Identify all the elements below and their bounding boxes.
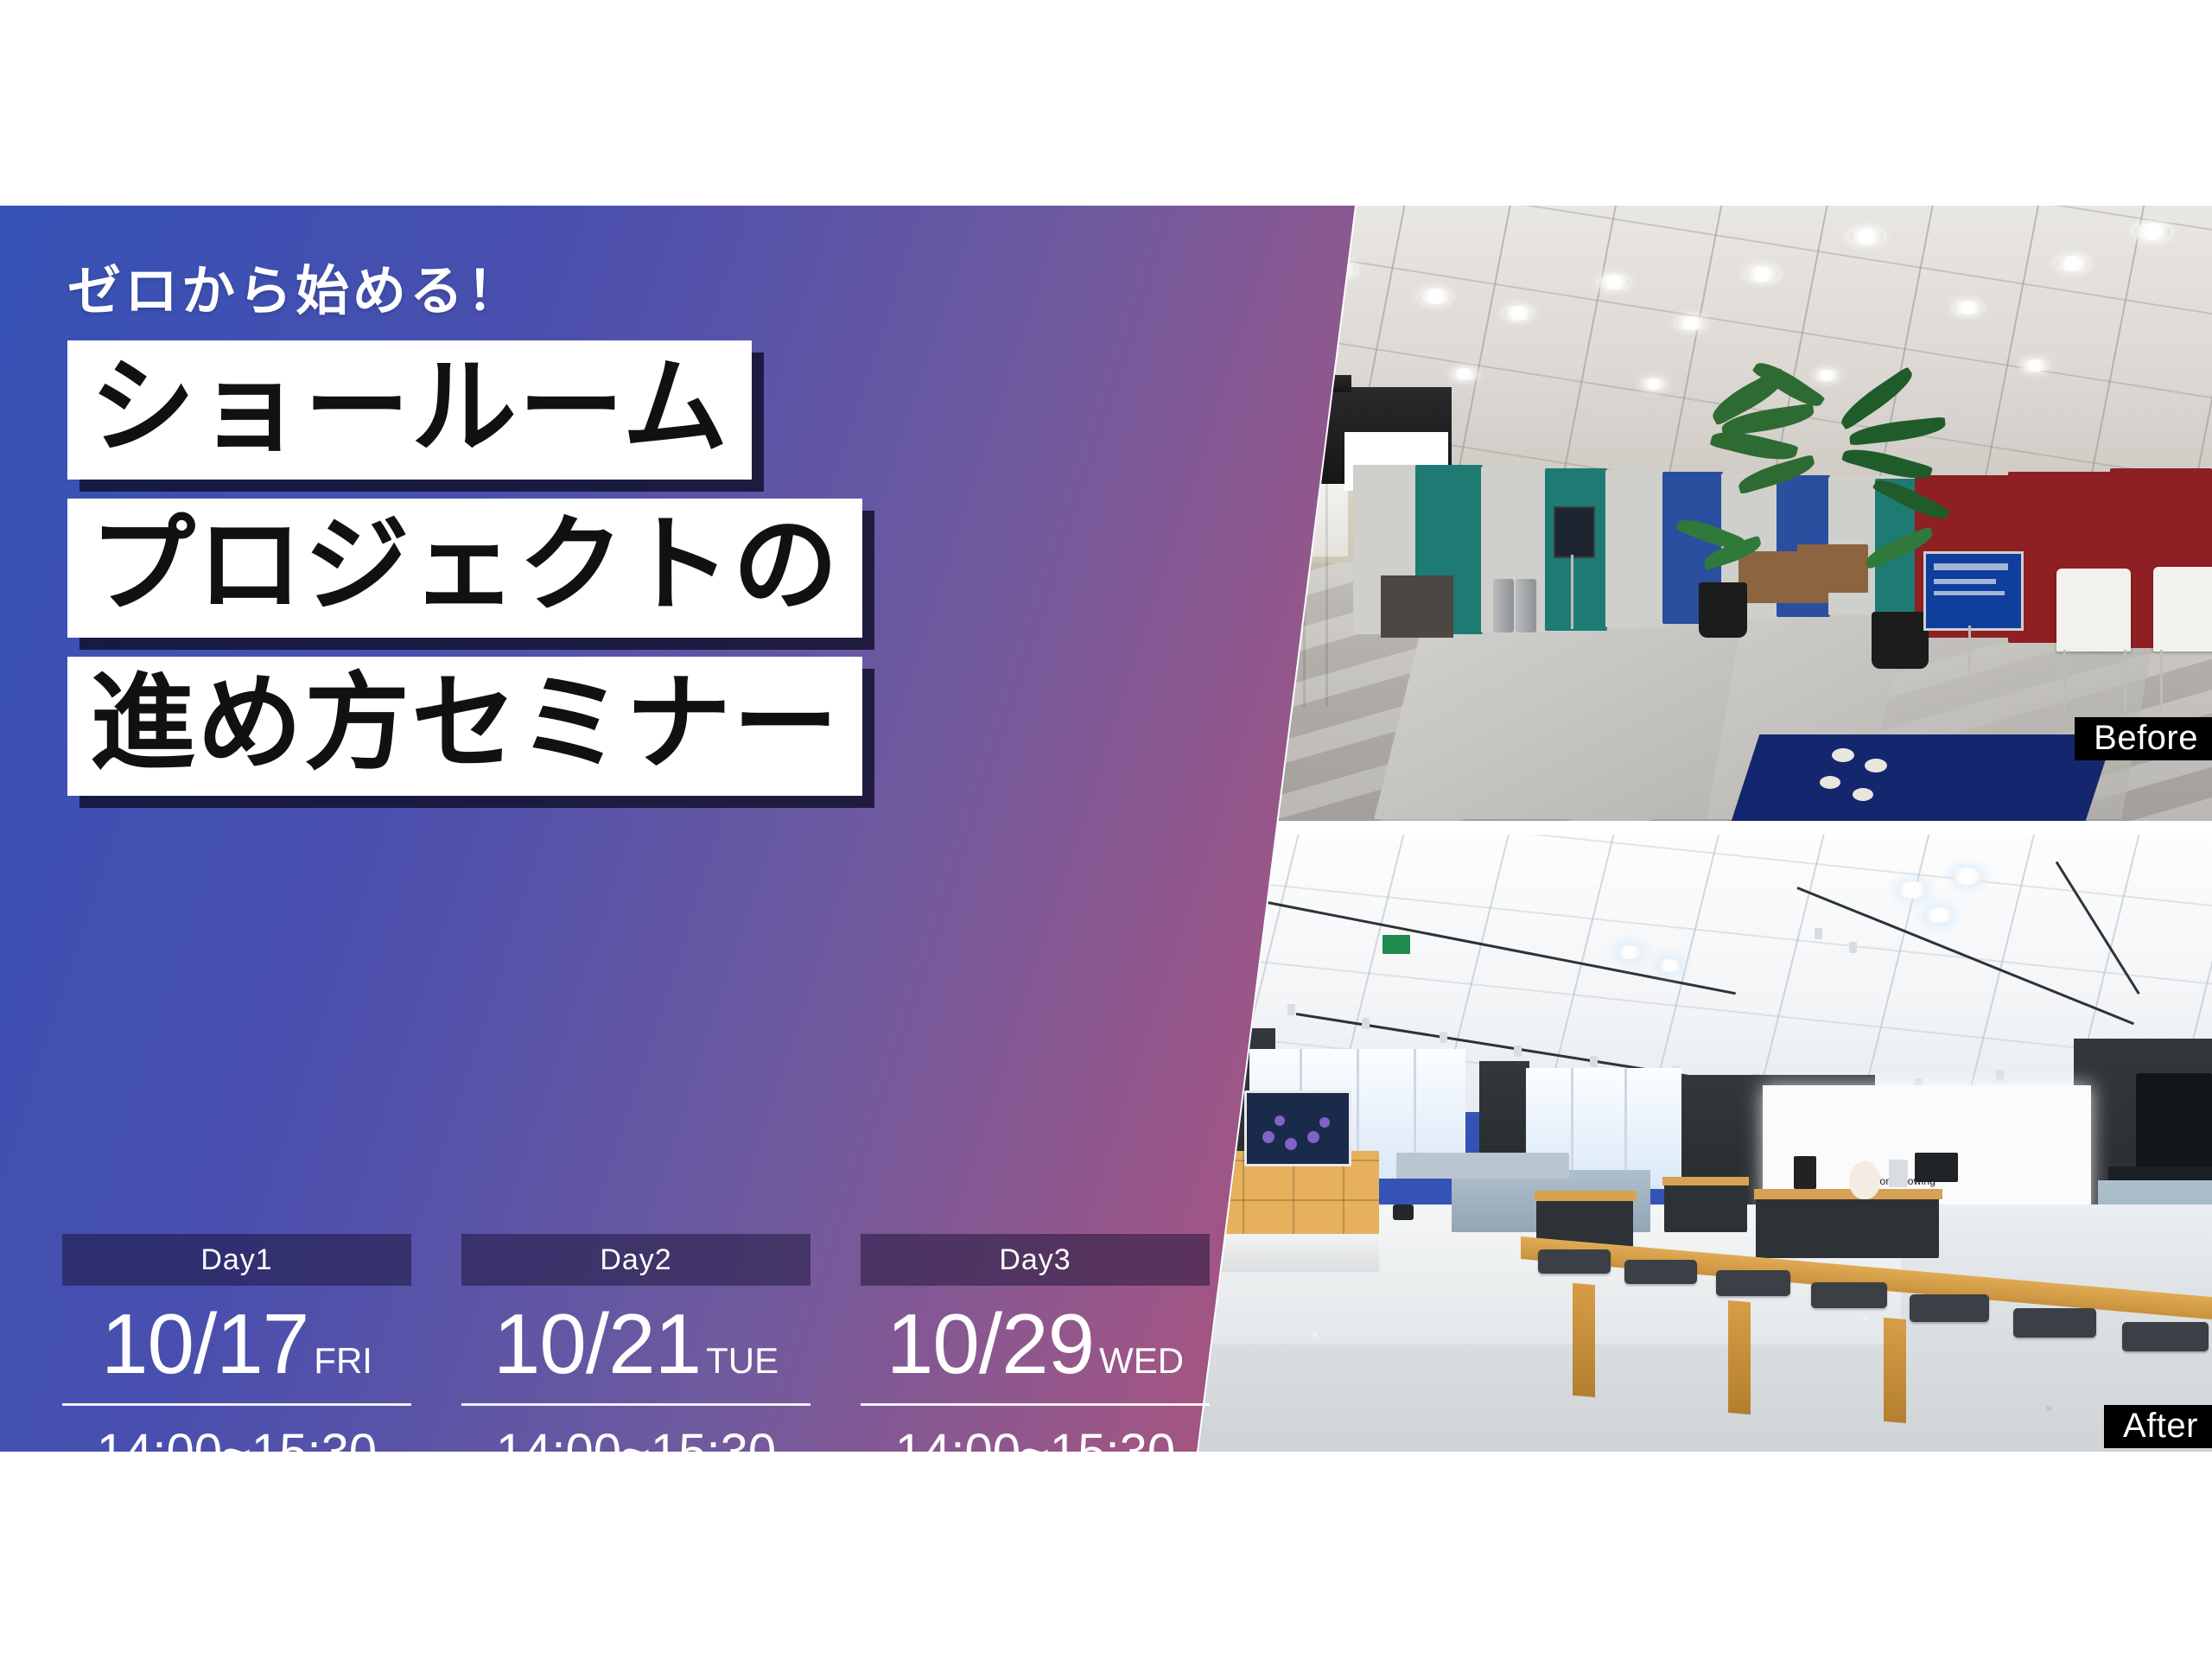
day-divider-1: [62, 1403, 411, 1406]
day-label-3: Day3: [861, 1234, 1210, 1286]
before-photo: Before: [1192, 206, 2212, 821]
day-date-3: 10/29 WED: [861, 1301, 1210, 1386]
title-line-1-text: ショールーム: [90, 353, 729, 462]
schedule-list: Day1 10/17 FRI 14:00~15:30 博展 京橋オフィス Day…: [62, 1234, 1211, 1452]
day-divider-3: [861, 1403, 1210, 1406]
day-card-2: Day2 10/21 TUE 14:00~15:30 博展 京橋オフィス: [461, 1234, 810, 1452]
day-date-1-weekday: FRI: [314, 1343, 372, 1379]
day-date-1: 10/17 FRI: [62, 1301, 411, 1386]
photo-separator: [1192, 821, 2212, 835]
day-card-3: Day3 10/29 WED 14:00~15:30 グラングリーン大阪 JAM…: [861, 1234, 1210, 1452]
kicker-text: ゼロから始める！: [67, 247, 524, 325]
day-time-3: 14:00~15:30: [861, 1423, 1210, 1452]
title-line-1: ショールーム: [67, 340, 752, 480]
day-date-1-number: 10/17: [101, 1301, 308, 1386]
title-line-3-text: 進め方セミナー: [90, 669, 840, 779]
day-date-2: 10/21 TUE: [461, 1301, 810, 1386]
day-card-1: Day1 10/17 FRI 14:00~15:30 博展 京橋オフィス: [62, 1234, 411, 1452]
poster-canvas: Before: [0, 0, 2212, 1659]
title-line-2: プロジェクトの: [67, 499, 862, 638]
photo-column: Before: [1192, 206, 2212, 1452]
title-stack: ショールーム プロジェクトの 進め方セミナー: [67, 340, 1227, 815]
day-label-1: Day1: [62, 1234, 411, 1286]
day-label-2: Day2: [461, 1234, 810, 1286]
day-date-2-weekday: TUE: [706, 1343, 779, 1379]
day-date-3-number: 10/29: [887, 1301, 1094, 1386]
title-line-3: 進め方セミナー: [67, 657, 862, 796]
seminar-banner: Before: [0, 206, 2212, 1452]
after-tag: After: [2104, 1405, 2212, 1448]
title-line-2-text: プロジェクトの: [90, 511, 840, 620]
banner-content: ゼロから始める！ ショールーム プロジェクトの 進め方セミナー Day1 10/…: [0, 206, 1227, 1452]
day-date-2-number: 10/21: [493, 1301, 701, 1386]
day-date-3-weekday: WED: [1099, 1343, 1184, 1379]
before-tag: Before: [2075, 717, 2212, 760]
after-photo: Co.Tomorrowing macnica: [1192, 835, 2212, 1452]
day-time-1: 14:00~15:30: [62, 1423, 411, 1452]
day-divider-2: [461, 1403, 810, 1406]
day-time-2: 14:00~15:30: [461, 1423, 810, 1452]
